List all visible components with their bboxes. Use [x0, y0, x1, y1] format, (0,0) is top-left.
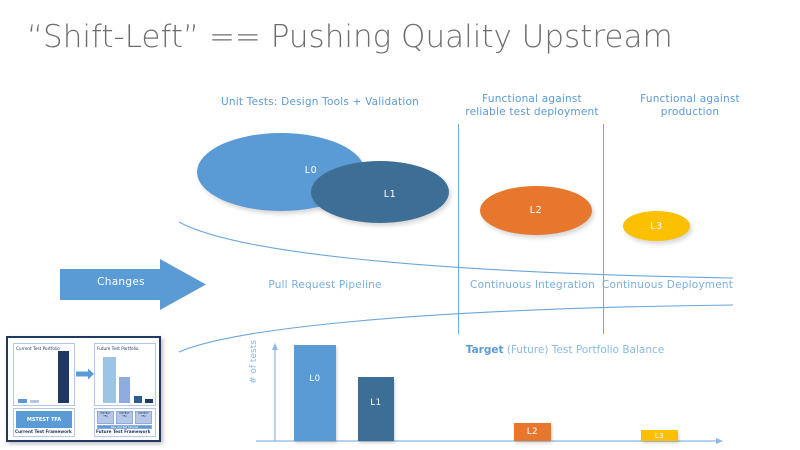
target-portfolio-chart: Target (Future) Test Portfolio Balance #… — [255, 336, 725, 450]
changes-arrow[interactable]: Changes — [60, 259, 206, 310]
pipeline-label-continuous-deployment: Continuous Deployment — [600, 278, 735, 292]
chart-bar-l1[interactable]: L1 — [358, 377, 394, 441]
stage-divider-2 — [603, 124, 604, 334]
chart-y-axis-label: # of tests — [249, 340, 259, 384]
chart-bar-l0-label: L0 — [309, 374, 320, 384]
thumb-caption-future-framework: Future Test Framework — [96, 429, 160, 434]
changes-arrow-label: Changes — [78, 276, 164, 288]
stage-header-functional-production: Functional against production — [610, 93, 770, 119]
bubble-l2-label: L2 — [530, 205, 543, 216]
stage-header-unit-tests: Unit Tests: Design Tools + Validation — [190, 96, 450, 109]
chart-title-rest: (Future) Test Portfolio Balance — [504, 344, 665, 356]
pipeline-label-continuous-integration: Continuous Integration — [470, 278, 595, 292]
chart-title-strong: Target — [466, 344, 504, 356]
thumb-future-bar-l0 — [103, 357, 116, 403]
thumb-future-framework-box-3: MSTEST TFA — [135, 411, 152, 424]
thumb-caption-future-portfolio: Future Test Portfolio — [97, 346, 145, 351]
thumb-future-framework-box-2: MSTEST TFA — [116, 411, 133, 424]
bubble-l3-label: L3 — [650, 221, 663, 232]
thumb-current-bar-l0 — [18, 399, 27, 403]
chart-bar-l1-label: L1 — [370, 398, 381, 408]
stage-divider-1 — [458, 124, 459, 334]
chart-bar-l3-label: L3 — [655, 432, 664, 440]
thumb-caption-current-framework: Current Test Framework — [15, 429, 77, 434]
bubble-l0-label: L0 — [305, 165, 318, 176]
pipeline-label-pull-request: Pull Request Pipeline — [240, 278, 410, 292]
bubble-l1-label: L1 — [384, 189, 397, 200]
chart-bar-l2[interactable]: L2 — [514, 423, 551, 441]
chart-bar-l3[interactable]: L3 — [641, 430, 678, 441]
chart-bar-l2-label: L2 — [527, 427, 538, 437]
thumb-future-framework-box-1: MSTEST TFA — [97, 411, 114, 424]
bubble-l1[interactable]: L1 — [311, 161, 449, 223]
bubble-l2[interactable]: L2 — [480, 186, 592, 235]
chart-title: Target (Future) Test Portfolio Balance — [415, 344, 715, 356]
thumb-future-framework-footer: New Unit Test Libraries — [97, 425, 152, 429]
stage-header-functional-reliable: Functional against reliable test deploym… — [462, 93, 602, 119]
chart-bar-l0[interactable]: L0 — [294, 345, 336, 441]
thumb-current-bar-l3 — [58, 351, 69, 403]
thumb-future-bar-l2 — [134, 396, 142, 403]
slide-canvas: “Shift-Left” == Pushing Quality Upstream… — [0, 0, 800, 450]
thumb-caption-current-portfolio: Current Test Portfolio — [16, 346, 64, 351]
thumb-future-bar-l3 — [145, 399, 153, 403]
thumb-current-bar-l1 — [30, 400, 39, 403]
thumb-current-framework-label: MSTEST TFA — [16, 411, 72, 428]
thumb-right-arrow-icon — [76, 368, 94, 380]
inset-thumbnail[interactable]: Current Test Portfolio Future Test Portf… — [6, 336, 161, 442]
page-title: “Shift-Left” == Pushing Quality Upstream — [27, 19, 767, 55]
thumb-future-bar-l1 — [119, 377, 130, 403]
bubble-l3[interactable]: L3 — [623, 211, 690, 241]
